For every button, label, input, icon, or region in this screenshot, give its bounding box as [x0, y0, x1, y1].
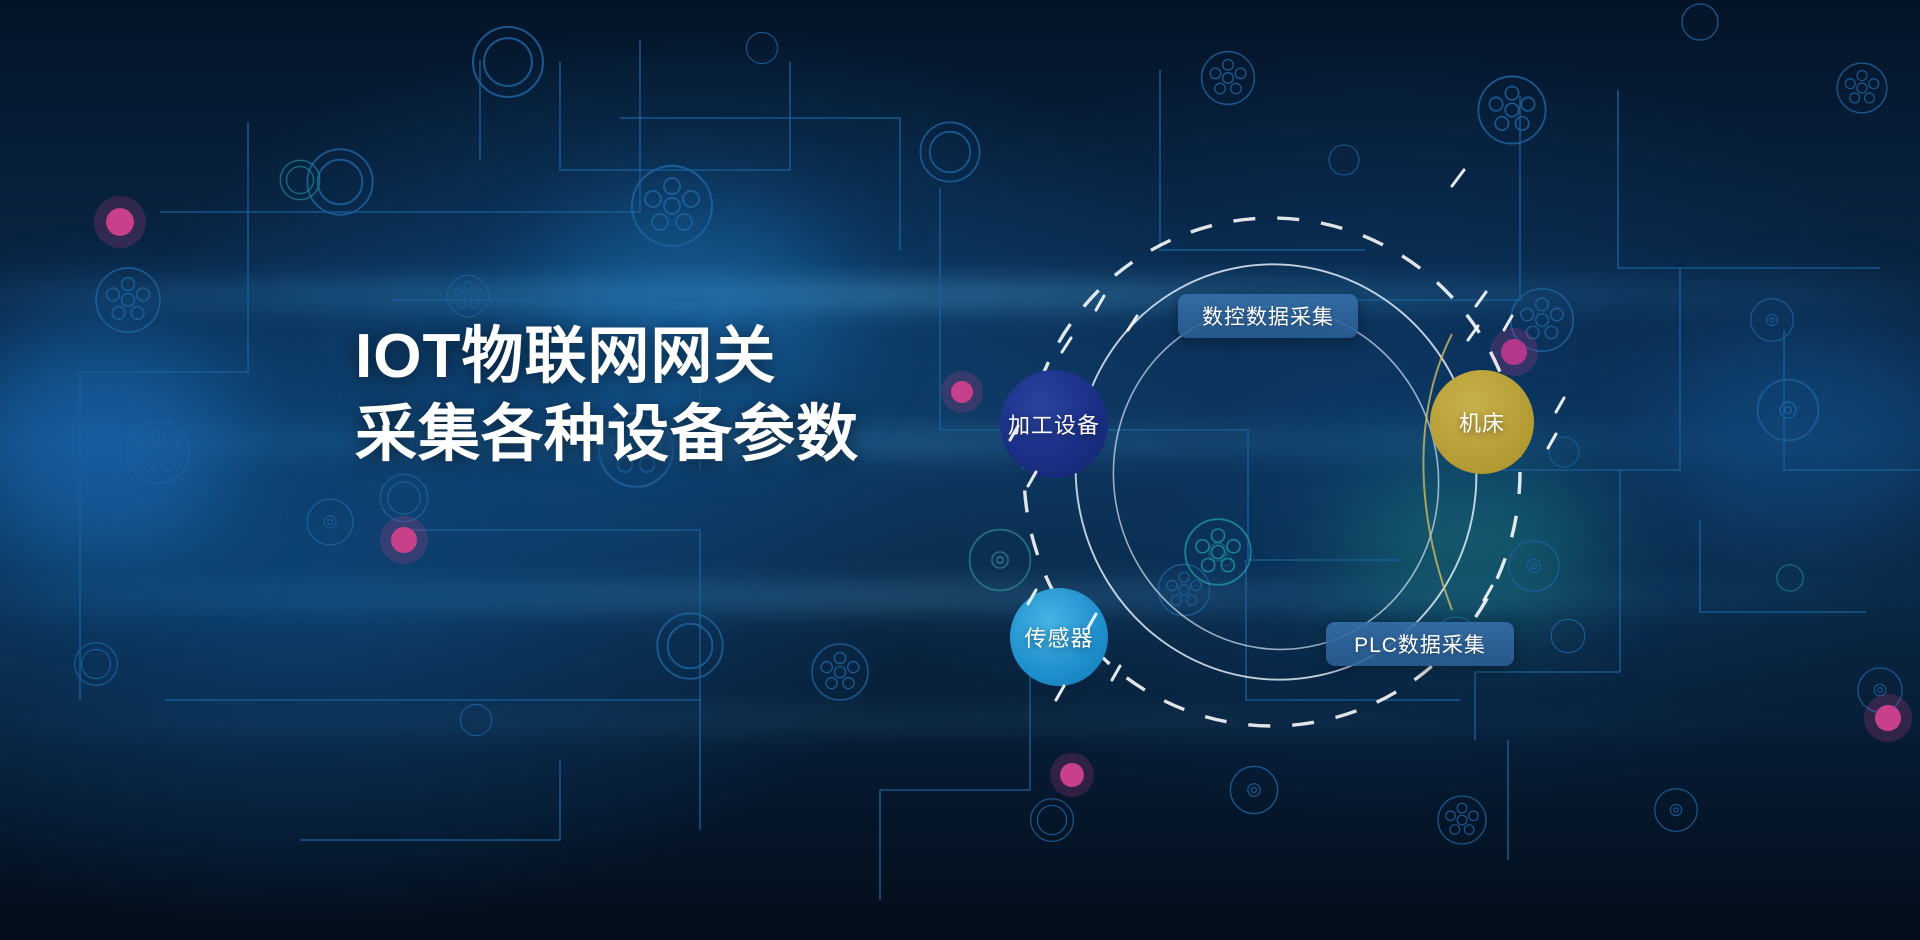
light-sweep-band — [0, 586, 1920, 608]
light-sweep-band — [0, 432, 1920, 452]
speckle-decoration — [0, 0, 1920, 940]
node-label: 传感器 — [1024, 621, 1093, 653]
label-cnc-data-collection[interactable]: 数控数据采集 — [1178, 294, 1358, 338]
pill-label: 数控数据采集 — [1202, 301, 1334, 331]
node-sensor[interactable]: 传感器 — [1010, 588, 1108, 686]
light-sweep-band — [0, 712, 1920, 728]
orbit-rings — [0, 0, 1920, 940]
node-label: 机床 — [1459, 406, 1505, 438]
page-title: IOT物联网网关 采集各种设备参数 — [355, 318, 859, 474]
background-glow — [1660, 330, 1920, 530]
iot-banner: IOT物联网网关 采集各种设备参数 加工设备 机床 传感器 数控数据采集 PLC… — [0, 0, 1920, 940]
node-processing-equipment[interactable]: 加工设备 — [1000, 370, 1108, 478]
label-plc-data-collection[interactable]: PLC数据采集 — [1326, 622, 1514, 666]
circuit-gear-decoration — [0, 0, 1920, 940]
background-glow — [0, 330, 240, 560]
title-line-1: IOT物联网网关 — [355, 318, 859, 396]
pill-label: PLC数据采集 — [1354, 629, 1486, 659]
node-machine-tool[interactable]: 机床 — [1430, 370, 1534, 474]
light-sweep-band — [0, 282, 1920, 308]
ring-arc-gold — [1423, 334, 1452, 610]
node-label: 加工设备 — [1008, 408, 1100, 440]
accent-dot-group — [94, 196, 1912, 797]
title-line-2: 采集各种设备参数 — [355, 396, 859, 474]
background-glow — [1340, 470, 1600, 620]
